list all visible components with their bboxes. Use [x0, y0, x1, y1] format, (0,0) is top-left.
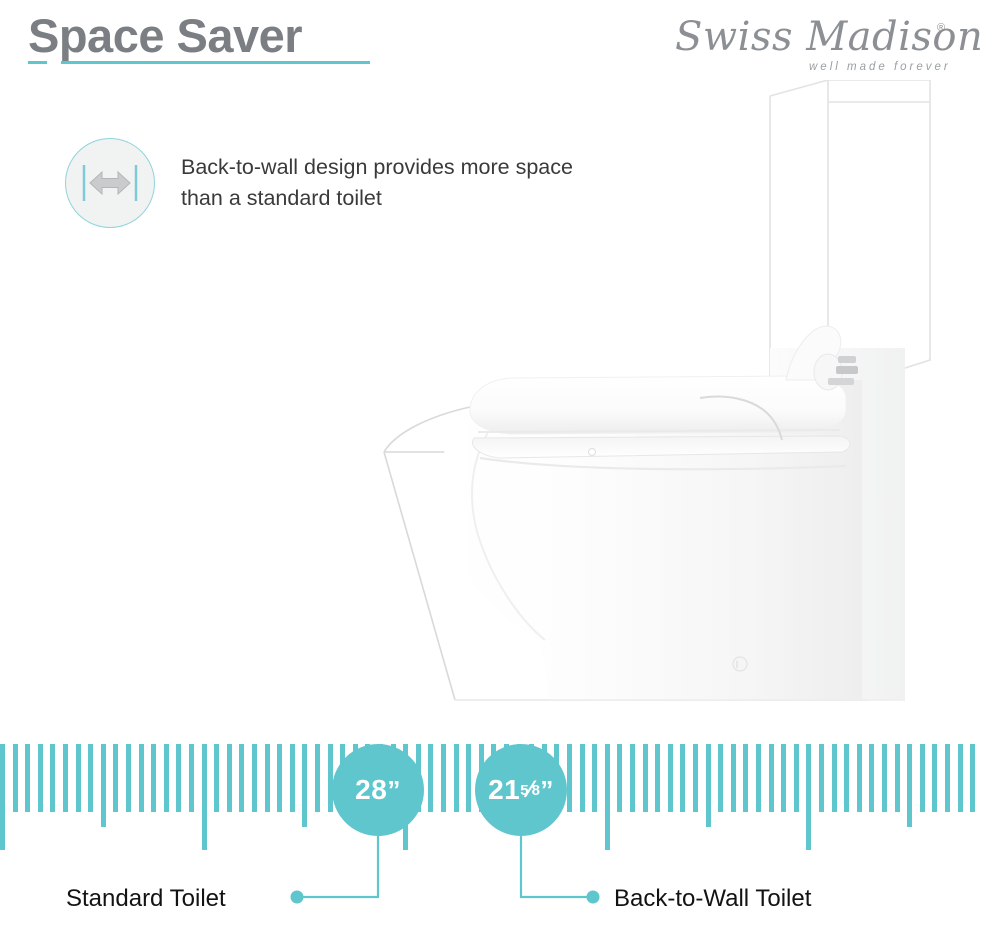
ruler-tick	[176, 744, 181, 812]
brand-name: Swiss Madison	[675, 14, 983, 60]
ruler-tick	[315, 744, 320, 812]
ruler-tick	[706, 744, 711, 827]
ruler-tick	[932, 744, 937, 812]
title-underline-descender-gap	[47, 59, 61, 67]
ruler-tick	[38, 744, 43, 812]
measurement-value-back-to-wall: 21	[488, 774, 520, 806]
measurement-value-standard: 28	[355, 774, 387, 806]
ruler-tick	[592, 744, 597, 812]
ruler-tick	[731, 744, 736, 812]
callout-connectors	[0, 836, 990, 932]
ruler-tick	[151, 744, 156, 812]
ruler-tick	[50, 744, 55, 812]
ruler-tick	[743, 744, 748, 812]
title-underline	[28, 61, 370, 64]
ruler-tick	[25, 744, 30, 812]
ruler-tick	[189, 744, 194, 812]
standard-tank-wireframe	[770, 80, 930, 380]
ruler-tick	[895, 744, 900, 812]
ruler-tick	[970, 744, 975, 812]
measurement-fraction: 5⁄8	[520, 776, 540, 804]
ruler-tick	[441, 744, 446, 812]
ruler-tick	[630, 744, 635, 812]
ruler-tick	[13, 744, 18, 812]
callout-line-back-to-wall	[521, 836, 593, 897]
ruler-tick	[265, 744, 270, 812]
ruler-tick	[101, 744, 106, 827]
ruler-tick	[239, 744, 244, 812]
ruler-tick	[0, 744, 5, 850]
callout-line-standard	[297, 836, 378, 897]
brand-logo: Swiss Madison ® well made forever	[675, 14, 975, 84]
callout-label-back-to-wall: Back-to-Wall Toilet	[614, 885, 811, 913]
ruler-tick	[454, 744, 459, 812]
callout-dot-standard	[291, 891, 304, 904]
infographic-canvas: Space Saver Swiss Madison ® well made fo…	[0, 0, 990, 932]
ruler-tick	[88, 744, 93, 812]
ruler-tick	[693, 744, 698, 812]
ruler-tick	[126, 744, 131, 812]
ruler-tick	[617, 744, 622, 812]
brand-tagline: well made forever	[809, 61, 951, 73]
ruler-tick	[794, 744, 799, 812]
ruler-tick	[76, 744, 81, 812]
ruler-tick	[202, 744, 207, 850]
ruler-tick	[113, 744, 118, 812]
ruler-tick	[668, 744, 673, 812]
ruler-tick	[769, 744, 774, 812]
ruler-tick	[882, 744, 887, 812]
page-title: Space Saver	[28, 8, 302, 64]
callout-label-standard: Standard Toilet	[66, 885, 226, 913]
fraction-denominator: 8	[532, 783, 541, 798]
ruler-tick	[328, 744, 333, 812]
ruler-tick	[227, 744, 232, 812]
ruler-tick	[958, 744, 963, 812]
ruler-tick	[819, 744, 824, 812]
ruler-tick	[252, 744, 257, 812]
inch-mark-back-to-wall: ”	[540, 775, 554, 806]
ruler-tick	[290, 744, 295, 812]
measurement-badge-back-to-wall: 21 5⁄8 ”	[475, 744, 567, 836]
ruler-tick	[857, 744, 862, 812]
ruler-tick	[945, 744, 950, 812]
ruler-tick	[466, 744, 471, 812]
ruler-tick	[580, 744, 585, 812]
ruler-tick	[907, 744, 912, 827]
ruler-tick	[63, 744, 68, 812]
inch-mark-standard: ”	[387, 775, 401, 806]
ruler-tick	[844, 744, 849, 812]
ruler-tick	[832, 744, 837, 812]
ruler-tick	[214, 744, 219, 812]
toilet-lid	[470, 376, 846, 434]
ruler-tick	[756, 744, 761, 812]
ruler-tick	[655, 744, 660, 812]
ruler-tick	[605, 744, 610, 850]
ruler-tick	[643, 744, 648, 812]
measurement-badge-standard: 28”	[332, 744, 424, 836]
ruler-tick	[302, 744, 307, 827]
ruler-tick	[567, 744, 572, 812]
ruler-tick	[164, 744, 169, 812]
ruler-tick	[869, 744, 874, 812]
ruler-tick	[277, 744, 282, 812]
ruler-tick	[781, 744, 786, 812]
product-illustration	[0, 80, 990, 720]
flush-button	[733, 657, 747, 671]
ruler-tick	[718, 744, 723, 812]
registered-mark-icon: ®	[937, 22, 945, 34]
ruler-tick	[680, 744, 685, 812]
ruler-tick	[806, 744, 811, 850]
ruler-tick	[139, 744, 144, 812]
ruler-tick	[920, 744, 925, 812]
ruler-tick	[428, 744, 433, 812]
callout-dot-back-to-wall	[587, 891, 600, 904]
